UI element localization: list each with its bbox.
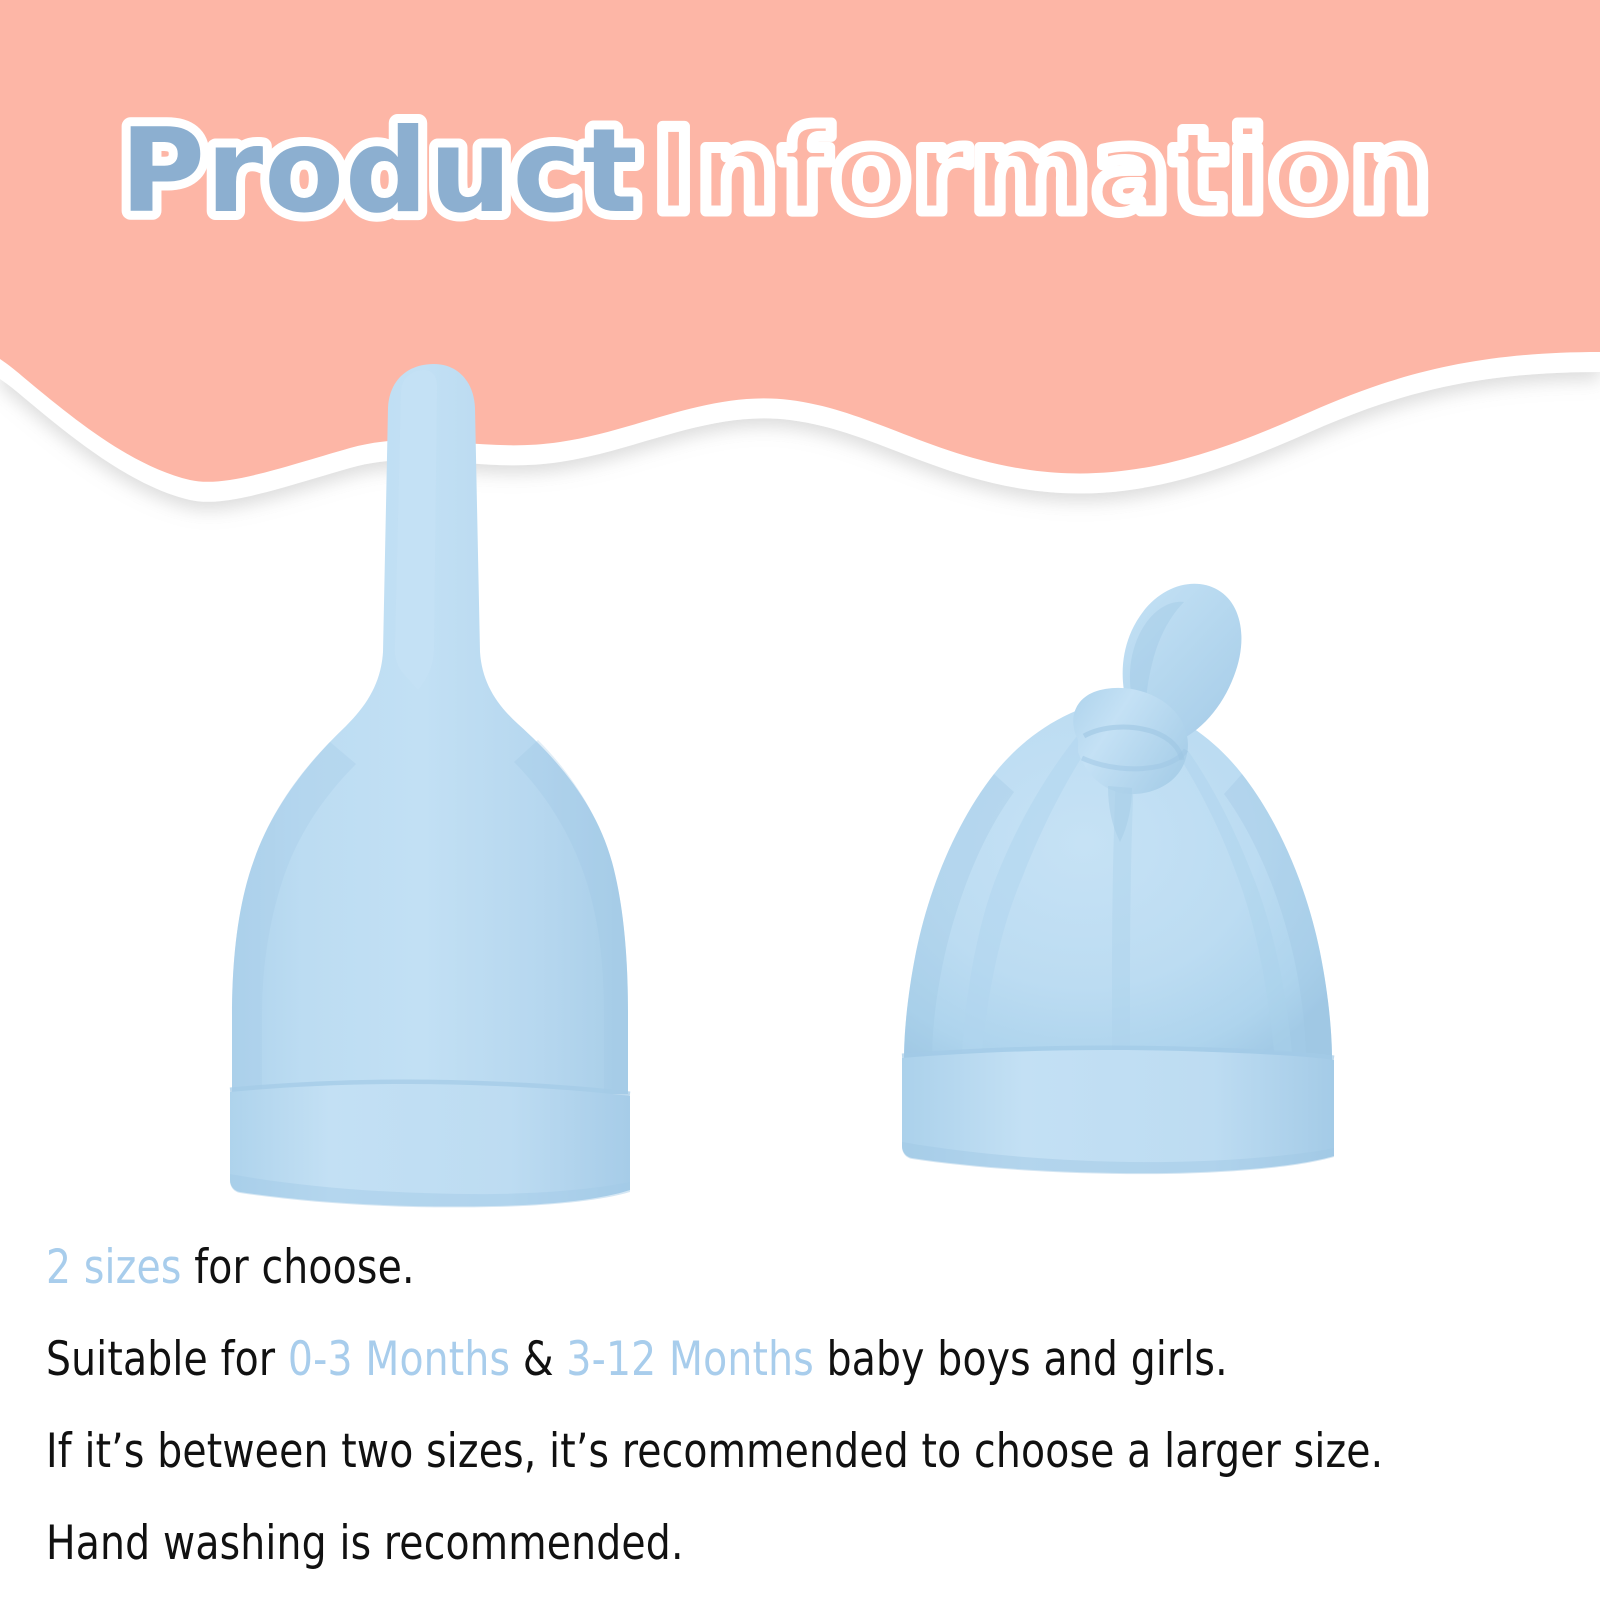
description-line-suitable: Suitable for 0-3 Months & 3-12 Months ba… xyxy=(46,1314,1469,1406)
text-suitable-for: Suitable for xyxy=(46,1332,288,1387)
description-line-sizes: 2 sizes for choose. xyxy=(46,1222,1469,1314)
highlight-age-range-small: 0-3 Months xyxy=(288,1332,510,1387)
text-washing-instruction: Hand washing is recommended. xyxy=(46,1516,684,1571)
text-ampersand: & xyxy=(510,1332,566,1387)
highlight-age-range-large: 3-12 Months xyxy=(566,1332,814,1387)
product-description: 2 sizes for choose. Suitable for 0-3 Mon… xyxy=(46,1222,1576,1590)
hat-tail-highlight xyxy=(395,370,437,690)
product-image-long-tail-hat xyxy=(196,352,666,1218)
highlight-sizes-count: 2 sizes xyxy=(46,1240,182,1295)
description-line-washing: Hand washing is recommended. xyxy=(46,1498,1469,1590)
text-baby-boys-girls: baby boys and girls. xyxy=(814,1332,1228,1387)
text-size-recommendation: If it’s between two sizes, it’s recommen… xyxy=(46,1424,1383,1479)
product-image-top-knot-hat xyxy=(882,560,1362,1220)
product-information-page: Product Product Information xyxy=(0,0,1600,1600)
description-line-between-sizes: If it’s between two sizes, it’s recommen… xyxy=(46,1406,1469,1498)
text-for-choose: for choose. xyxy=(182,1240,415,1295)
